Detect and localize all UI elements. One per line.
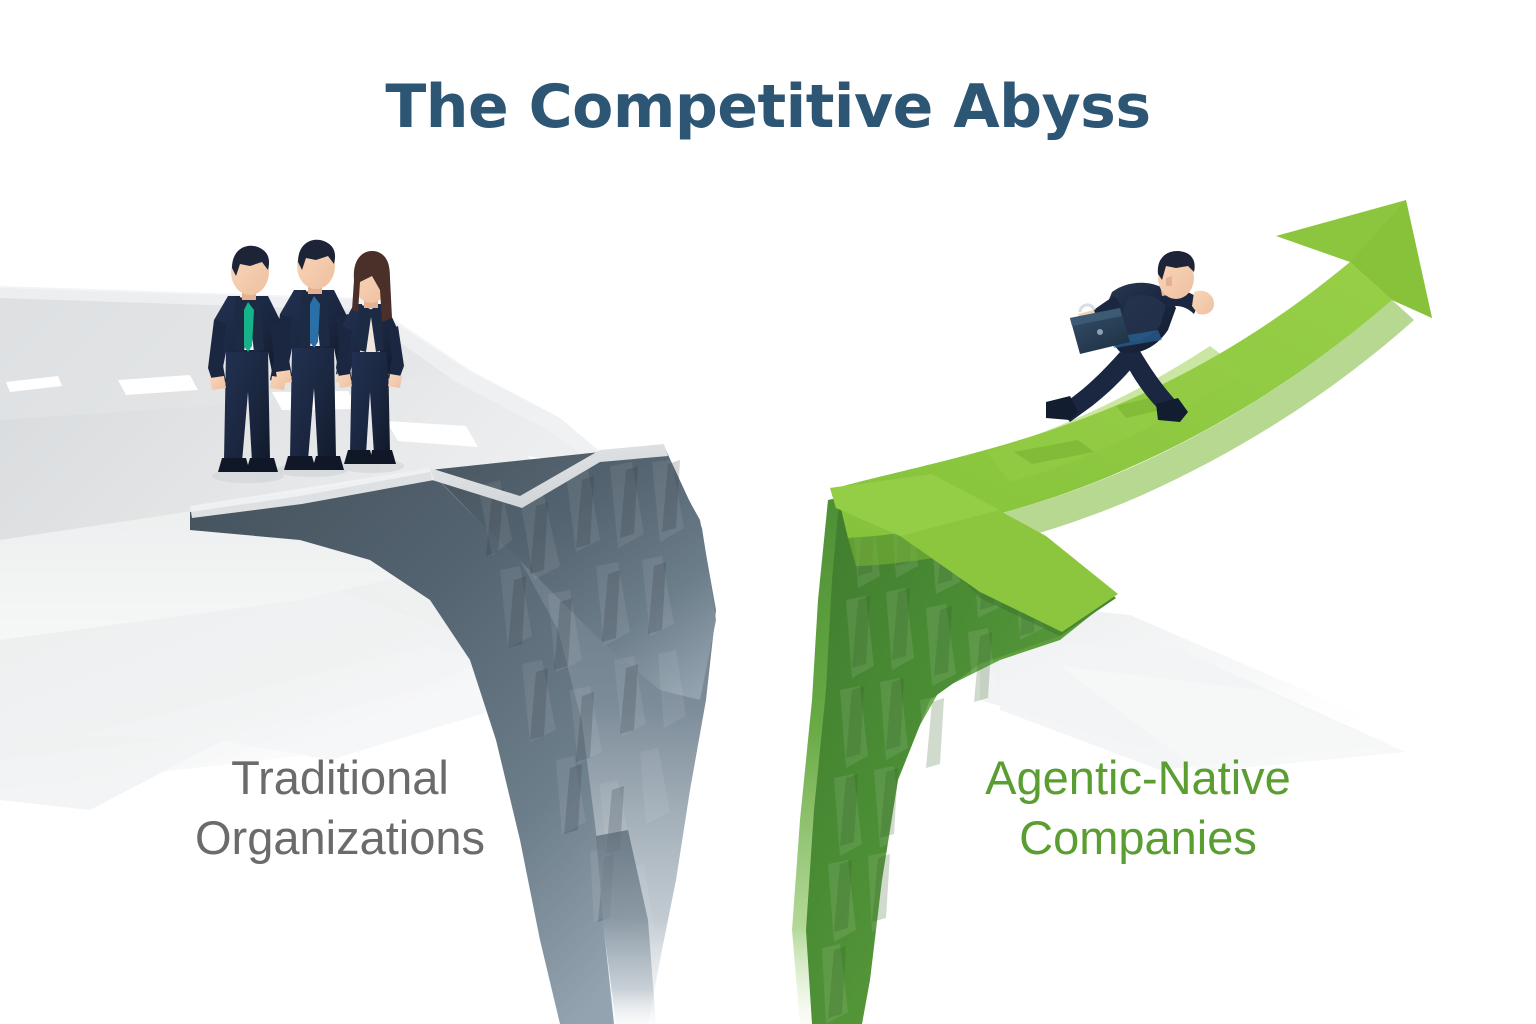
illustration-canvas: The Competitive Abyss Traditional Organi… [0, 0, 1536, 1024]
competitive-abyss-illustration [0, 0, 1536, 1024]
figure-group-traditional [208, 240, 404, 483]
